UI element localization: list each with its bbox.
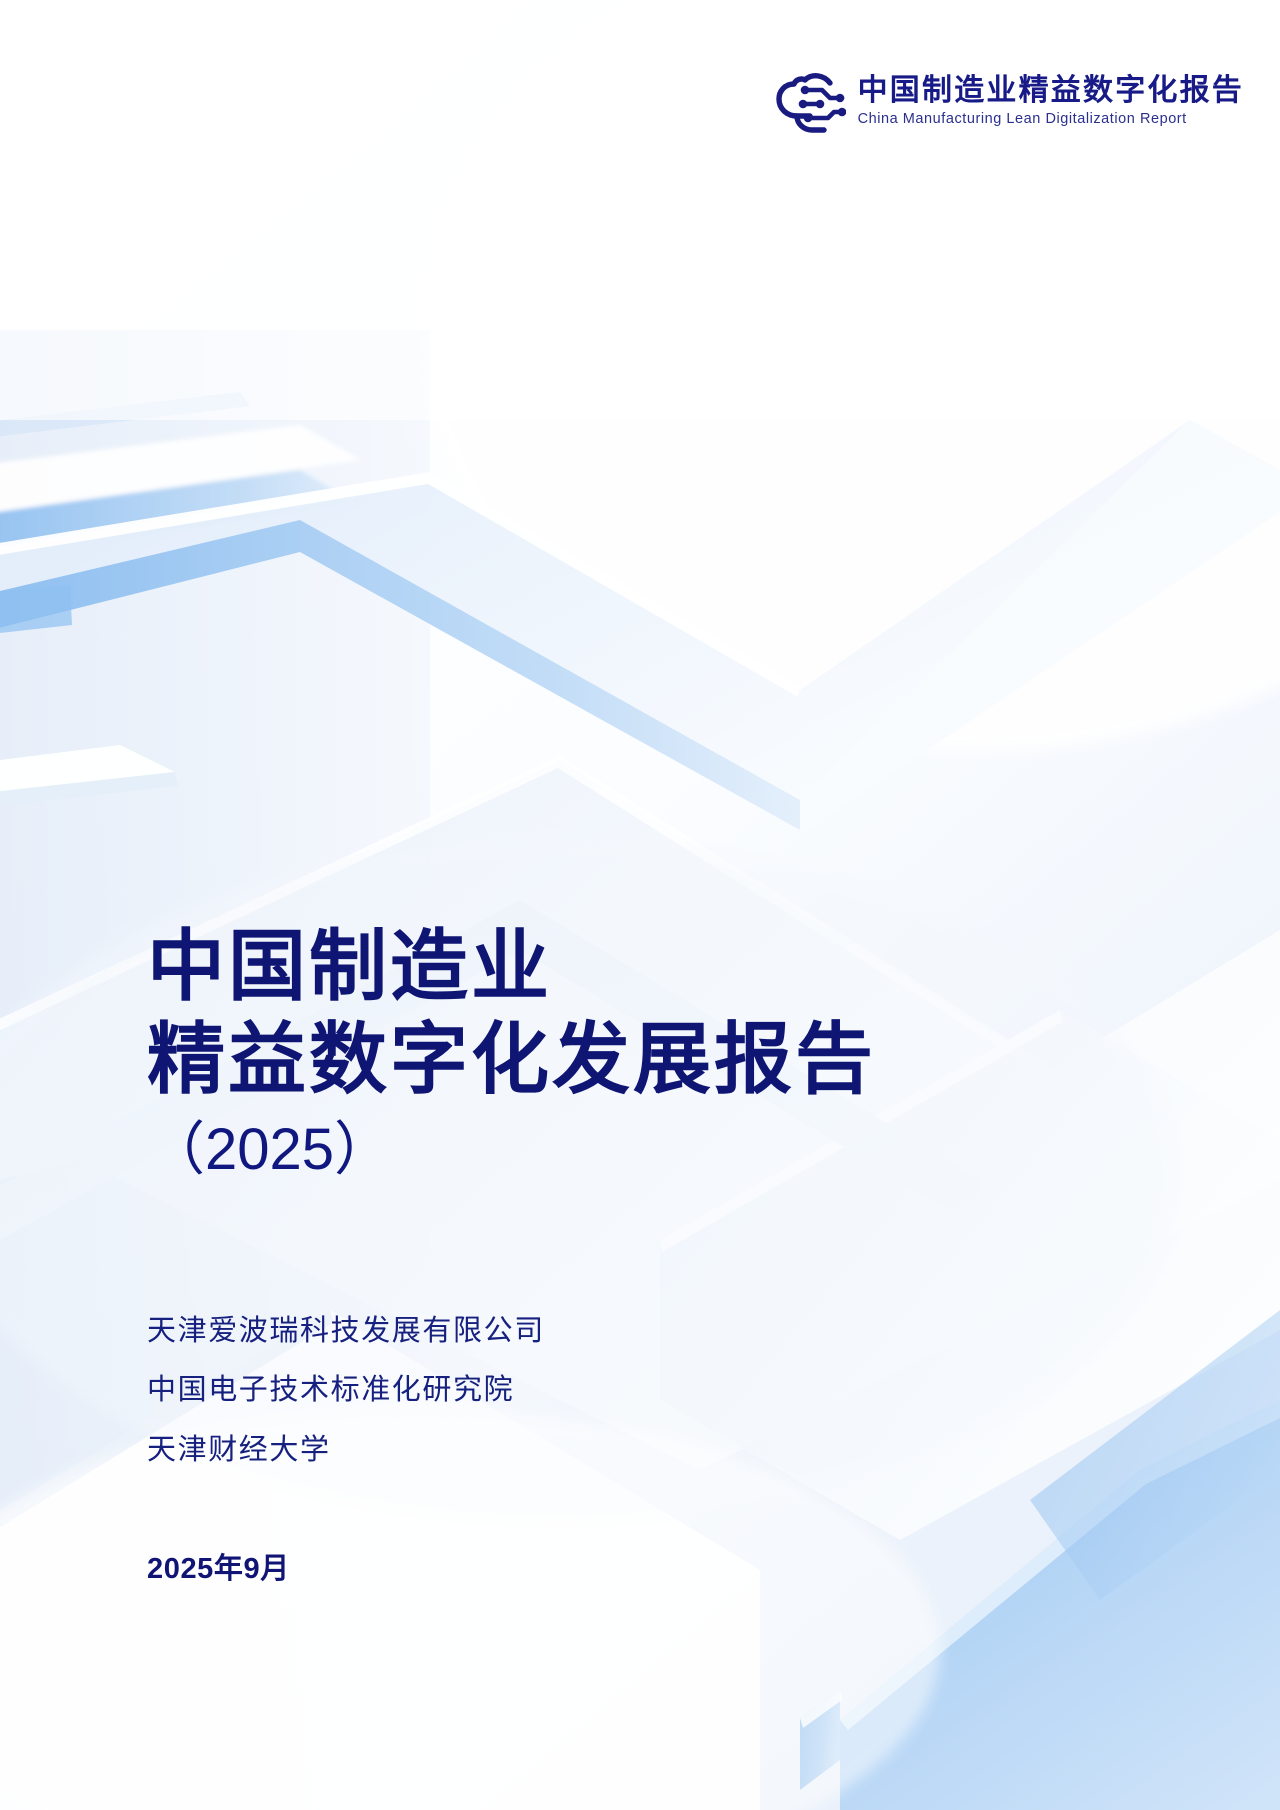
- slab-mid-left-sliver: [0, 745, 178, 815]
- logo-english-name: China Manufacturing Lean Digitalization …: [858, 110, 1244, 130]
- logo-text-block: 中国制造业精益数字化报告 China Manufacturing Lean Di…: [858, 75, 1244, 130]
- publication-date: 2025年9月: [147, 1545, 1157, 1587]
- report-logo-lockup: 中国制造业精益数字化报告 China Manufacturing Lean Di…: [772, 66, 1244, 138]
- slab-upper-left-corner: [0, 392, 250, 446]
- page-title-line-2: 精益数字化发展报告: [147, 1013, 1157, 1106]
- report-cover-page: 中国制造业精益数字化报告 China Manufacturing Lean Di…: [0, 0, 1280, 1810]
- organization-item: 天津财经大学: [147, 1421, 1157, 1481]
- cover-content: 中国制造业 精益数字化发展报告 （2025） 天津爱波瑞科技发展有限公司 中国电…: [147, 920, 1157, 1587]
- slab-main-upper: [0, 420, 1280, 832]
- page-title-line-1: 中国制造业: [147, 920, 1157, 1013]
- organization-item: 天津爱波瑞科技发展有限公司: [147, 1302, 1157, 1362]
- organization-item: 中国电子技术标准化研究院: [147, 1361, 1157, 1421]
- cloud-circuit-icon: [772, 66, 846, 138]
- page-title-year: （2025）: [147, 1110, 1157, 1190]
- organization-list: 天津爱波瑞科技发展有限公司 中国电子技术标准化研究院 天津财经大学: [147, 1302, 1157, 1481]
- slab-left-blue-strip: [0, 585, 72, 642]
- slab-upper-left: [0, 425, 360, 560]
- logo-chinese-name: 中国制造业精益数字化报告: [858, 75, 1244, 107]
